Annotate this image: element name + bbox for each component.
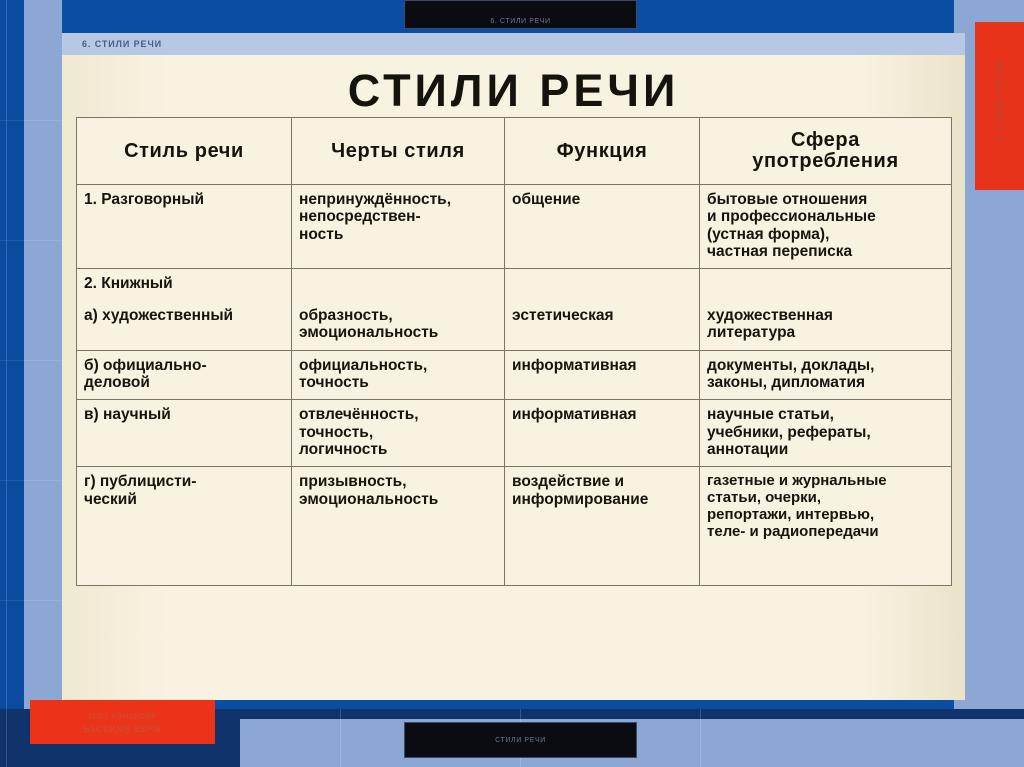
cell-style: в) научный: [77, 400, 292, 467]
column-header-features: Черты стиля: [292, 118, 505, 185]
cell-style: 1. Разговорный: [77, 185, 292, 269]
background-grid-line: [0, 600, 62, 601]
table-row: г) публицисти- ческий призывность, эмоци…: [77, 467, 952, 586]
slide-panel: СТИЛИ РЕЧИ Стиль речи Черты стиля Функци…: [62, 55, 965, 700]
cell-usage: газетные и журнальные статьи, очерки, ре…: [700, 467, 952, 586]
background-grid-line: [700, 709, 701, 767]
cell-style-group: 2. Книжный: [77, 269, 292, 301]
slide-tag-label: 6. СТИЛИ РЕЧИ: [82, 39, 162, 49]
background-grid-line: [0, 480, 62, 481]
slide-stage: 6. СТИЛИ РЕЧИ 6. СТИЛИ РЕЧИ СТИЛИ РЕЧИ Т…: [0, 0, 1024, 767]
background-grid-line: [340, 709, 341, 767]
top-thumbnail-plate: 6. СТИЛИ РЕЧИ: [404, 0, 637, 29]
bottom-plate-label: СТИЛИ РЕЧИ: [495, 737, 546, 744]
column-header-style: Стиль речи: [77, 118, 292, 185]
cell-function-spacer: [505, 269, 700, 301]
table-row: 2. Книжный: [77, 269, 952, 301]
accent-red-bl-line2: РУССКИЙ ЯЗЫК: [84, 721, 162, 735]
top-plate-label: 6. СТИЛИ РЕЧИ: [490, 18, 550, 25]
accent-red-right-label: СТИЛИ РЕЧИ: [994, 45, 1006, 155]
accent-red-right: СТИЛИ РЕЧИ: [975, 22, 1024, 190]
bottom-thumbnail-plate: СТИЛИ РЕЧИ: [404, 722, 637, 758]
cell-features: непринуждённость, непосредствен- ность: [292, 185, 505, 269]
cell-features: призывность, эмоциональность: [292, 467, 505, 586]
cell-usage: художественная литература: [700, 301, 952, 350]
background-grid-line: [0, 120, 62, 121]
cell-features-spacer: [292, 269, 505, 301]
slide-tag-bar: 6. СТИЛИ РЕЧИ: [62, 33, 965, 55]
cell-style: б) официально- деловой: [77, 350, 292, 400]
cell-features: официальность, точность: [292, 350, 505, 400]
background-grid-line: [6, 0, 7, 767]
background-grid-line: [0, 360, 62, 361]
cell-usage-spacer: [700, 269, 952, 301]
background-left-light-band: [24, 0, 62, 767]
column-header-usage: Сфера употребления: [700, 118, 952, 185]
cell-style: а) художественный: [77, 301, 292, 350]
cell-function: общение: [505, 185, 700, 269]
cell-function: информативная: [505, 350, 700, 400]
accent-red-bl-line1: ТЕСТ КОНТРОЛЬ: [88, 710, 158, 721]
cell-function: эстетическая: [505, 301, 700, 350]
table-head: Стиль речи Черты стиля Функция Сфера упо…: [77, 118, 952, 185]
table-row: б) официально- деловой официальность, то…: [77, 350, 952, 400]
cell-function: информативная: [505, 400, 700, 467]
column-header-function: Функция: [505, 118, 700, 185]
page-title: СТИЛИ РЕЧИ: [62, 65, 965, 117]
accent-red-bottom-left: ТЕСТ КОНТРОЛЬ РУССКИЙ ЯЗЫК: [30, 700, 215, 744]
table-body: 1. Разговорный непринуждённость, непосре…: [77, 185, 952, 586]
cell-style: г) публицисти- ческий: [77, 467, 292, 586]
table-row: в) научный отвлечённость, точность, логи…: [77, 400, 952, 467]
table-row: 1. Разговорный непринуждённость, непосре…: [77, 185, 952, 269]
table-header-row: Стиль речи Черты стиля Функция Сфера упо…: [77, 118, 952, 185]
background-grid-line: [0, 240, 62, 241]
cell-function: воздействие и информирование: [505, 467, 700, 586]
cell-features: образность, эмоциональность: [292, 301, 505, 350]
cell-usage: научные статьи, учебники, рефераты, анно…: [700, 400, 952, 467]
speech-styles-table: Стиль речи Черты стиля Функция Сфера упо…: [76, 117, 952, 586]
table-row: а) художественный образность, эмоциональ…: [77, 301, 952, 350]
cell-features: отвлечённость, точность, логичность: [292, 400, 505, 467]
group-heading: 2. Книжный: [84, 275, 284, 292]
cell-usage: документы, доклады, законы, дипломатия: [700, 350, 952, 400]
cell-usage: бытовые отношения и профессиональные (ус…: [700, 185, 952, 269]
background-left-dark-band: [0, 0, 24, 767]
